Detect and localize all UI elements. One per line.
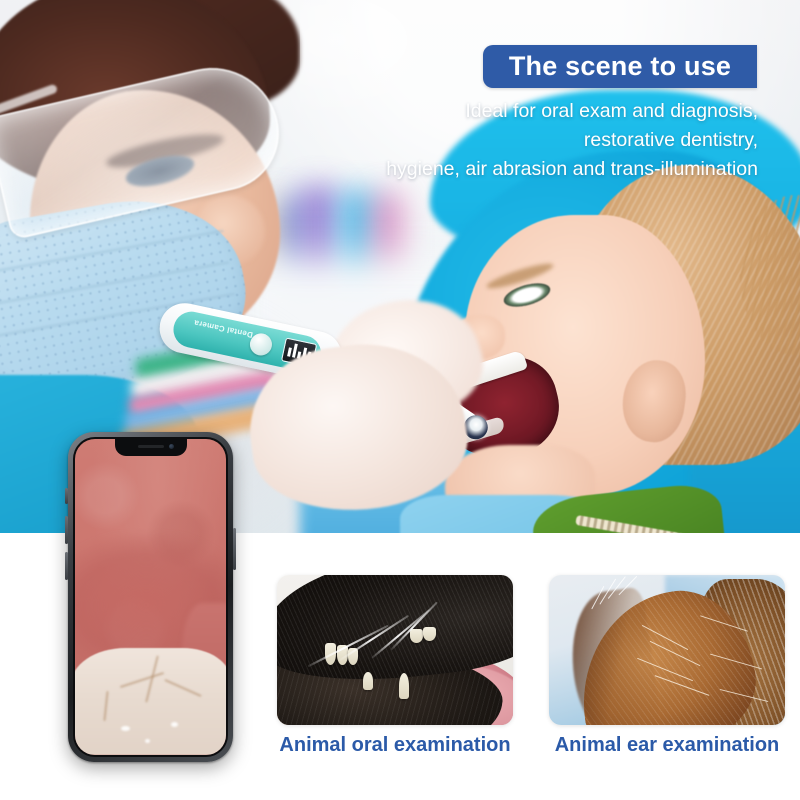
specular-highlight — [171, 722, 178, 727]
dog-tooth — [363, 672, 373, 690]
page-title: The scene to use — [509, 51, 731, 82]
phone-mockup — [68, 432, 233, 762]
phone-volume-down-button[interactable] — [65, 552, 68, 580]
subtitle-line-2: restorative dentistry, — [300, 126, 758, 155]
card-animal-oral: Animal oral examination — [277, 575, 513, 757]
phone-notch — [115, 439, 187, 456]
subtitle-line-3: hygiene, air abrasion and trans-illumina… — [300, 155, 758, 184]
dog-tooth — [410, 629, 423, 643]
phone-screen[interactable] — [75, 439, 226, 755]
intraoral-teeth — [75, 648, 226, 755]
headline-banner: The scene to use — [483, 45, 757, 88]
specular-highlight — [145, 739, 150, 743]
dog-tooth — [399, 673, 409, 699]
cat-photo — [549, 575, 785, 725]
card-animal-ear: Animal ear examination — [549, 575, 785, 757]
subtitle-line-1: Ideal for oral exam and diagnosis, — [300, 97, 758, 126]
dog-photo — [277, 575, 513, 725]
card-caption-animal-oral: Animal oral examination — [277, 734, 513, 757]
specular-highlight — [121, 726, 130, 731]
phone-mute-switch[interactable] — [65, 488, 68, 504]
phone-power-button[interactable] — [233, 528, 236, 570]
child-patient — [455, 175, 800, 533]
dog-tooth — [423, 627, 436, 641]
phone-bezel — [73, 437, 228, 757]
phone-earpiece-speaker — [138, 445, 164, 448]
subtitle-block: Ideal for oral exam and diagnosis, resto… — [300, 97, 758, 184]
phone-volume-up-button[interactable] — [65, 516, 68, 544]
product-marketing-image: Dental Camera The scene to use Ideal for… — [0, 0, 800, 800]
phone-front-camera — [169, 444, 174, 449]
card-caption-animal-ear: Animal ear examination — [549, 734, 785, 757]
